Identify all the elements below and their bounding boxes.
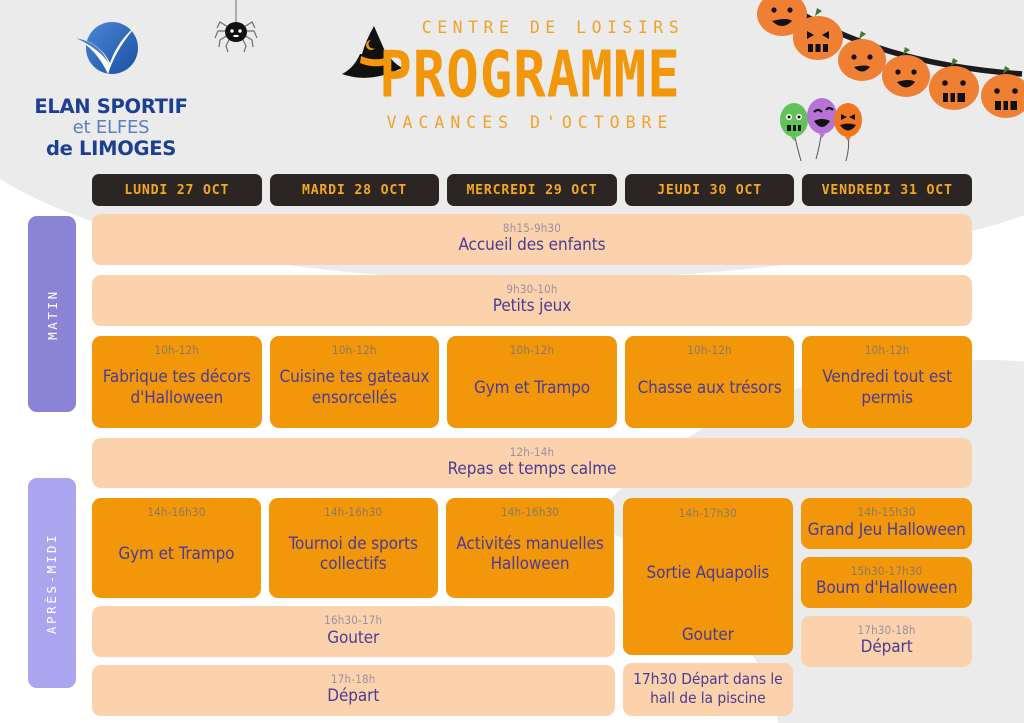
row-afternoon: 14h-16h30 Gym et Trampo 14h-16h30 Tourno…: [92, 498, 972, 716]
title-subtitle: VACANCES D'OCTOBRE: [350, 113, 710, 132]
morning-wednesday-activity: Gym et Trampo: [474, 378, 590, 398]
morning-tuesday-activity: Cuisine tes gateaux ensorcellés: [276, 367, 434, 408]
card-morning-wednesday[interactable]: 10h-12h Gym et Trampo: [447, 336, 617, 428]
day-header-monday[interactable]: LUNDI 27 OCT: [92, 174, 262, 206]
afternoon-thursday-activity: Sortie Aquapolis: [629, 563, 788, 583]
card-morning-thursday[interactable]: 10h-12h Chasse aux trésors: [625, 336, 795, 428]
afternoon-thursday-time: 14h-17h30: [629, 506, 788, 520]
friday-departure-activity: Départ: [809, 637, 964, 657]
afternoon-thursday-snack: Gouter: [629, 625, 788, 645]
morning-monday-activity: Fabrique tes décors d'Halloween: [98, 367, 256, 408]
schedule-grid: 8h15-9h30 Accueil des enfants 9h30-10h P…: [92, 214, 972, 716]
period-label-morning-text: MATIN: [45, 289, 60, 340]
row-petits-jeux[interactable]: 9h30-10h Petits jeux: [92, 275, 972, 326]
departure-activity: Départ: [100, 686, 607, 706]
afternoon-friday-block: 14h-15h30 Grand Jeu Halloween 15h30-17h3…: [801, 498, 972, 716]
page-title: PROGRAMME: [350, 41, 710, 110]
day-header-row: LUNDI 27 OCT MARDI 28 OCT MERCREDI 29 OC…: [92, 174, 972, 206]
period-label-afternoon-text: APRÈS-MIDI: [45, 532, 60, 633]
row-snack-monwed[interactable]: 16h30-17h Gouter: [92, 606, 615, 657]
friday-party-time: 15h30-17h30: [807, 564, 966, 578]
card-afternoon-thursday[interactable]: 14h-17h30 Sortie Aquapolis Gouter: [623, 498, 794, 655]
morning-wednesday-time: 10h-12h: [510, 343, 555, 357]
halloween-balloons-icon: [778, 95, 868, 169]
lunch-time: 12h-14h: [102, 445, 962, 459]
row-welcome[interactable]: 8h15-9h30 Accueil des enfants: [92, 214, 972, 265]
afternoon-tuesday-activity: Tournoi de sports collectifs: [275, 534, 432, 575]
poster-title-block: CENTRE DE LOISIRS PROGRAMME VACANCES D'O…: [350, 18, 710, 132]
card-afternoon-wednesday[interactable]: 14h-16h30 Activités manuelles Halloween: [446, 498, 615, 598]
afternoon-monwed-block: 14h-16h30 Gym et Trampo 14h-16h30 Tourno…: [92, 498, 615, 716]
row-lunch[interactable]: 12h-14h Repas et temps calme: [92, 438, 972, 489]
card-friday-grand-jeu[interactable]: 14h-15h30 Grand Jeu Halloween: [801, 498, 972, 549]
petits-jeux-activity: Petits jeux: [102, 296, 962, 316]
row-departure-thursday[interactable]: 17h30 Départ dans le hall de la piscine: [623, 663, 794, 716]
morning-monday-time: 10h-12h: [155, 343, 200, 357]
card-afternoon-tuesday[interactable]: 14h-16h30 Tournoi de sports collectifs: [269, 498, 438, 598]
friday-party-activity: Boum d'Halloween: [807, 578, 966, 598]
departure-time: 17h-18h: [100, 672, 607, 686]
program-poster: ELAN SPORTIF et ELFES de LIMOGES CENTRE …: [0, 0, 1024, 723]
row-morning-activities: 10h-12h Fabrique tes décors d'Halloween …: [92, 336, 972, 428]
afternoon-monday-time: 14h-16h30: [147, 505, 205, 519]
welcome-time: 8h15-9h30: [102, 221, 962, 235]
afternoon-wednesday-time: 14h-16h30: [501, 505, 559, 519]
welcome-activity: Accueil des enfants: [102, 235, 962, 255]
lunch-activity: Repas et temps calme: [102, 459, 962, 479]
morning-friday-time: 10h-12h: [865, 343, 910, 357]
logo-line-1: ELAN SPORTIF: [18, 95, 204, 118]
row-departure-monwed[interactable]: 17h-18h Départ: [92, 665, 615, 716]
morning-friday-activity: Vendredi tout est permis: [808, 367, 966, 408]
snack-time: 16h30-17h: [100, 613, 607, 627]
morning-thursday-time: 10h-12h: [687, 343, 732, 357]
snack-activity: Gouter: [100, 628, 607, 648]
period-label-morning: MATIN: [28, 216, 76, 412]
friday-game-activity: Grand Jeu Halloween: [807, 520, 966, 540]
row-departure-friday[interactable]: 17h30-18h Départ: [801, 616, 972, 667]
afternoon-thursday-block: 14h-17h30 Sortie Aquapolis Gouter 17h30 …: [623, 498, 794, 716]
day-header-thursday[interactable]: JEUDI 30 OCT: [625, 174, 795, 206]
afternoon-tuesday-time: 14h-16h30: [324, 505, 382, 519]
afternoon-monday-activity: Gym et Trampo: [118, 544, 234, 564]
card-friday-boum[interactable]: 15h30-17h30 Boum d'Halloween: [801, 557, 972, 608]
card-afternoon-monday[interactable]: 14h-16h30 Gym et Trampo: [92, 498, 261, 598]
petits-jeux-time: 9h30-10h: [102, 282, 962, 296]
afternoon-wednesday-activity: Activités manuelles Halloween: [452, 534, 609, 575]
friday-game-time: 14h-15h30: [807, 505, 966, 519]
logo-line-2: et ELFES: [18, 117, 204, 138]
period-label-afternoon: APRÈS-MIDI: [28, 478, 76, 688]
day-header-wednesday[interactable]: MERCREDI 29 OCT: [447, 174, 617, 206]
spider-icon: [214, 0, 258, 62]
morning-thursday-activity: Chasse aux trésors: [638, 378, 782, 398]
morning-tuesday-time: 10h-12h: [332, 343, 377, 357]
day-header-tuesday[interactable]: MARDI 28 OCT: [270, 174, 440, 206]
organization-logo: ELAN SPORTIF et ELFES de LIMOGES: [18, 18, 204, 160]
card-morning-friday[interactable]: 10h-12h Vendredi tout est permis: [802, 336, 972, 428]
friday-departure-time: 17h30-18h: [809, 623, 964, 637]
logo-line-3: de LIMOGES: [18, 137, 204, 160]
afternoon-activity-cards: 14h-16h30 Gym et Trampo 14h-16h30 Tourno…: [92, 498, 615, 598]
day-header-friday[interactable]: VENDREDI 31 OCT: [802, 174, 972, 206]
card-morning-monday[interactable]: 10h-12h Fabrique tes décors d'Halloween: [92, 336, 262, 428]
thursday-departure-text: 17h30 Départ dans le hall de la piscine: [631, 670, 786, 707]
bird-checkmark-logo-icon: [56, 18, 166, 88]
card-morning-tuesday[interactable]: 10h-12h Cuisine tes gateaux ensorcellés: [270, 336, 440, 428]
